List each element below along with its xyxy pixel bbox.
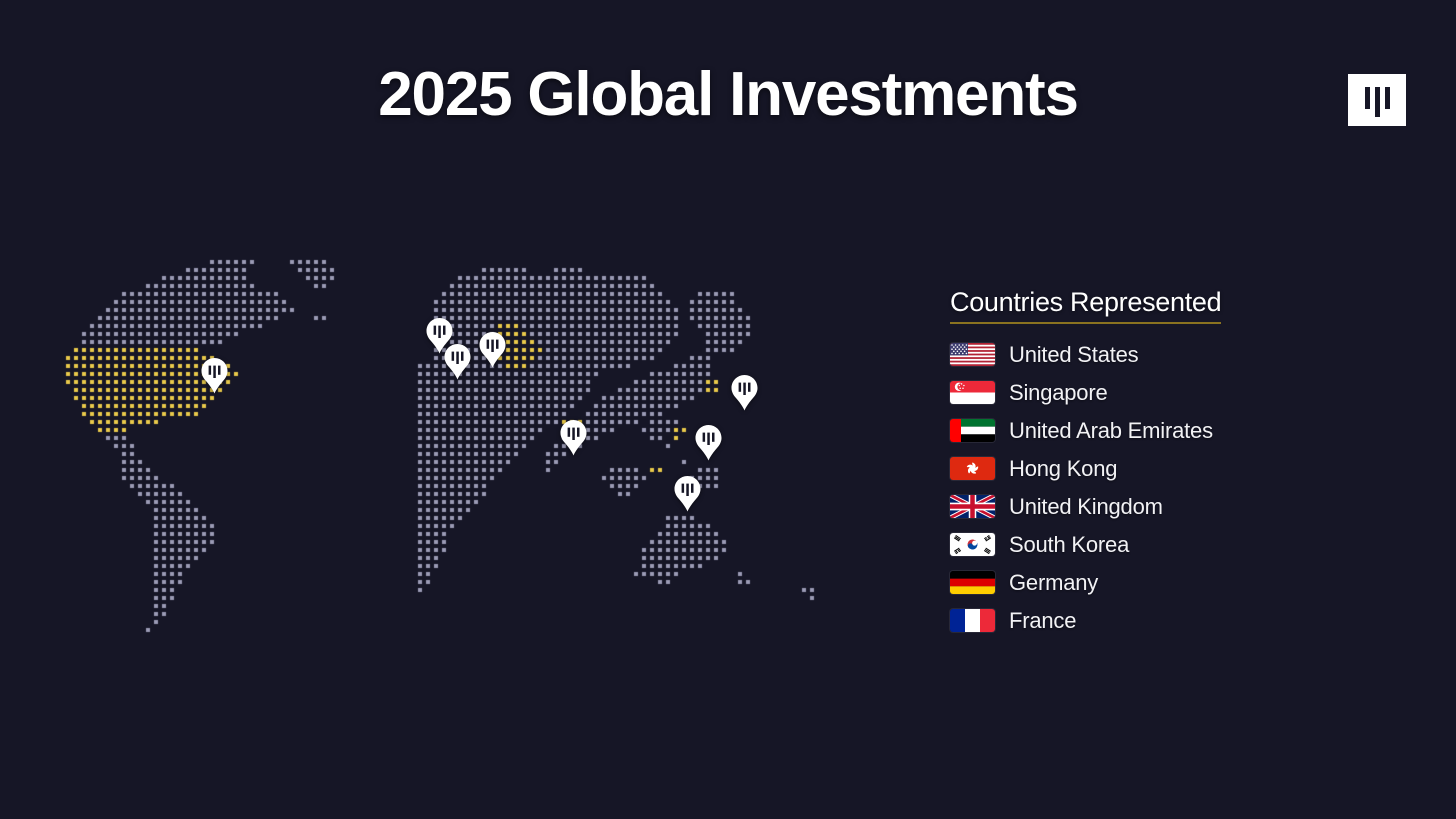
map-marker-pin[interactable] xyxy=(444,344,471,380)
country-list-item[interactable]: France xyxy=(950,602,1350,640)
country-name-label: United States xyxy=(1009,342,1138,368)
country-name-label: United Arab Emirates xyxy=(1009,418,1213,444)
country-list-item[interactable]: United Kingdom xyxy=(950,488,1350,526)
flag-fr-icon xyxy=(950,609,995,632)
flag-ae-icon xyxy=(950,419,995,442)
legend-panel: Countries Represented United States Sing… xyxy=(950,288,1350,640)
map-marker-pin[interactable] xyxy=(201,358,228,394)
country-list-item[interactable]: Singapore xyxy=(950,374,1350,412)
map-marker-pin[interactable] xyxy=(731,375,758,411)
three-bar-logo-icon xyxy=(1348,74,1406,126)
country-list-item[interactable]: United Arab Emirates xyxy=(950,412,1350,450)
flag-gb-icon xyxy=(950,495,995,518)
map-marker-pin[interactable] xyxy=(674,476,701,512)
world-map xyxy=(40,250,920,690)
country-name-label: South Korea xyxy=(1009,532,1129,558)
logo-bar-right xyxy=(1385,87,1390,109)
country-name-label: Hong Kong xyxy=(1009,456,1117,482)
country-list-item[interactable]: South Korea xyxy=(950,526,1350,564)
country-name-label: France xyxy=(1009,608,1076,634)
flag-sg-icon xyxy=(950,381,995,404)
map-marker-pin[interactable] xyxy=(560,420,587,456)
world-map-dots xyxy=(40,250,920,690)
country-list-item[interactable]: Hong Kong xyxy=(950,450,1350,488)
country-name-label: Germany xyxy=(1009,570,1098,596)
logo-bar-center xyxy=(1375,87,1380,117)
country-list: United States Singapore United Arab Emir… xyxy=(950,336,1350,640)
country-name-label: United Kingdom xyxy=(1009,494,1163,520)
flag-us-icon xyxy=(950,343,995,366)
map-marker-pin[interactable] xyxy=(695,425,722,461)
slide-root: 2025 Global Investments Countries Repres… xyxy=(0,0,1456,819)
country-list-item[interactable]: Germany xyxy=(950,564,1350,602)
map-marker-pin[interactable] xyxy=(479,332,506,368)
flag-hk-icon xyxy=(950,457,995,480)
legend-heading: Countries Represented xyxy=(950,288,1221,324)
country-list-item[interactable]: United States xyxy=(950,336,1350,374)
page-title: 2025 Global Investments xyxy=(0,64,1456,126)
flag-de-icon xyxy=(950,571,995,594)
flag-kr-icon xyxy=(950,533,995,556)
country-name-label: Singapore xyxy=(1009,380,1108,406)
logo-bar-left xyxy=(1365,87,1370,109)
